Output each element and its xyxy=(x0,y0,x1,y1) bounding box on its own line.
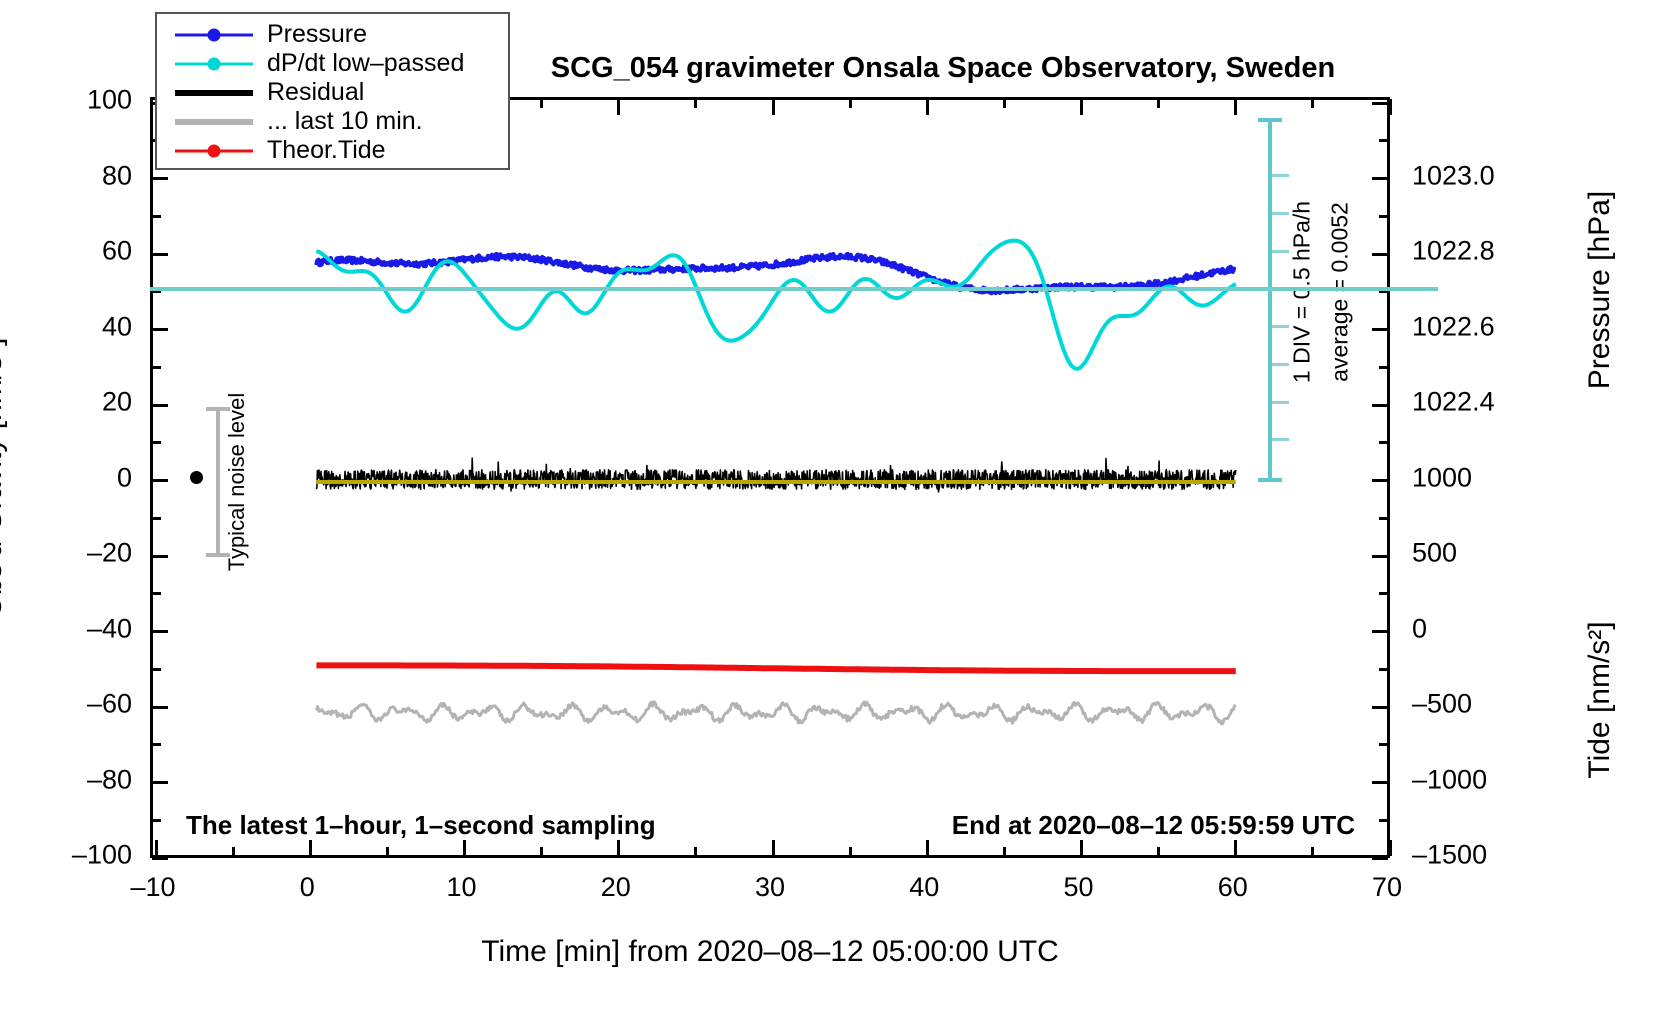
y-tick-right-minor xyxy=(1379,139,1388,142)
x-tick-minor xyxy=(1157,847,1160,856)
y-tick xyxy=(152,857,168,860)
y-tick-right xyxy=(1372,555,1388,558)
legend-label: Theor.Tide xyxy=(267,136,386,165)
y-ticklabel: –100 xyxy=(0,840,132,871)
y-ticklabel: –60 xyxy=(0,689,132,720)
x-ticklabel: 10 xyxy=(446,872,476,903)
legend: PressuredP/dt low–passedResidual... last… xyxy=(155,12,510,170)
x-tick-top-minor xyxy=(1003,99,1006,108)
legend-swatch-icon xyxy=(175,24,253,46)
y-tick-right xyxy=(1372,328,1388,331)
pressure-ticklabel: 1022.8 xyxy=(1412,236,1495,267)
plot-root: SCG_054 gravimeter Onsala Space Observat… xyxy=(0,0,1660,1020)
plot-area xyxy=(150,97,1390,858)
x-tick-minor xyxy=(694,847,697,856)
x-tick-top-minor xyxy=(1311,99,1314,108)
x-ticklabel: 30 xyxy=(755,872,785,903)
legend-label: ... last 10 min. xyxy=(267,107,423,136)
x-tick-minor xyxy=(1003,847,1006,856)
x-tick-minor xyxy=(540,847,543,856)
y-tick xyxy=(152,328,168,331)
x-ticklabel: 20 xyxy=(601,872,631,903)
y-tick-minor xyxy=(152,215,161,218)
tide-ticklabel: –1000 xyxy=(1412,764,1487,795)
legend-item-2[interactable]: Residual xyxy=(157,78,508,107)
y-tick-minor xyxy=(152,668,161,671)
x-tick xyxy=(772,840,775,856)
x-ticklabel: 50 xyxy=(1063,872,1093,903)
series-path xyxy=(316,702,1235,724)
scale-average-label: average = 0.0052 xyxy=(1327,202,1354,382)
y-tick-right-minor xyxy=(1379,819,1388,822)
legend-swatch-icon xyxy=(175,111,253,133)
tide-ticklabel: –1500 xyxy=(1412,840,1487,871)
legend-label: dP/dt low–passed xyxy=(267,49,464,78)
y-tick-right xyxy=(1372,630,1388,633)
y-tick-right xyxy=(1372,102,1388,105)
y-ticklabel: 80 xyxy=(0,160,132,191)
x-tick xyxy=(309,840,312,856)
legend-marker-dot xyxy=(208,28,221,41)
y-ticklabel: 60 xyxy=(0,236,132,267)
x-tick-top xyxy=(1234,99,1237,115)
tide-ticklabel: 0 xyxy=(1412,613,1427,644)
y-tick-minor xyxy=(152,517,161,520)
y-tick-right xyxy=(1372,177,1388,180)
y-ticklabel: –20 xyxy=(0,538,132,569)
x-tick-top xyxy=(926,99,929,115)
y-axis-label-right-tide: Tide [nm/s²] xyxy=(1583,621,1617,778)
y-tick-minor xyxy=(152,441,161,444)
scale-bar-tick xyxy=(1272,174,1289,177)
series-path xyxy=(316,665,1235,671)
legend-item-1[interactable]: dP/dt low–passed xyxy=(157,49,508,78)
y-tick xyxy=(152,404,168,407)
y-tick xyxy=(152,630,168,633)
y-tick-right xyxy=(1372,781,1388,784)
x-tick-top-minor xyxy=(694,99,697,108)
dpdt-baseline xyxy=(150,287,1438,291)
y-ticklabel: –80 xyxy=(0,764,132,795)
x-ticklabel: 0 xyxy=(300,872,315,903)
y-tick-right xyxy=(1372,253,1388,256)
legend-swatch-icon xyxy=(175,53,253,75)
x-tick-minor xyxy=(1311,847,1314,856)
legend-label: Residual xyxy=(267,78,364,107)
noise-level-label: Typical noise level xyxy=(224,393,250,572)
x-tick-top xyxy=(1389,99,1392,115)
scale-division-label: 1 DIV = 0.5 hPa/h xyxy=(1289,201,1316,383)
scale-bar-tick xyxy=(1272,325,1289,328)
legend-item-3[interactable]: ... last 10 min. xyxy=(157,107,508,136)
noise-center-dot xyxy=(190,471,203,484)
x-tick xyxy=(1234,840,1237,856)
y-tick-right-minor xyxy=(1379,517,1388,520)
y-tick-minor xyxy=(152,819,161,822)
x-ticklabel: 60 xyxy=(1218,872,1248,903)
y-tick-right-minor xyxy=(1379,366,1388,369)
y-tick-right-minor xyxy=(1379,743,1388,746)
scale-bar-tick xyxy=(1272,250,1289,253)
y-tick-right xyxy=(1372,479,1388,482)
y-tick xyxy=(152,479,168,482)
pressure-ticklabel: 1022.4 xyxy=(1412,387,1495,418)
y-tick-right-minor xyxy=(1379,441,1388,444)
end-time-note: End at 2020–08–12 05:59:59 UTC xyxy=(952,810,1355,841)
tide-ticklabel: 500 xyxy=(1412,538,1457,569)
scale-bar-tick xyxy=(1272,363,1289,366)
x-tick xyxy=(1389,840,1392,856)
legend-marker-dot xyxy=(208,57,221,70)
scale-bar-tick xyxy=(1272,438,1289,441)
y-tick-right xyxy=(1372,857,1388,860)
tide-ticklabel: 1000 xyxy=(1412,462,1472,493)
y-tick-right-minor xyxy=(1379,592,1388,595)
tide-ticklabel: –500 xyxy=(1412,689,1472,720)
scale-bar xyxy=(1268,118,1272,480)
scale-bar-tick xyxy=(1272,212,1289,215)
y-tick-minor xyxy=(152,743,161,746)
y-tick-minor xyxy=(152,592,161,595)
x-ticklabel: 70 xyxy=(1372,872,1402,903)
y-ticklabel: –40 xyxy=(0,613,132,644)
x-axis-label: Time [min] from 2020–08–12 05:00:00 UTC xyxy=(481,935,1059,969)
y-axis-label-right-pressure: Pressure [hPa] xyxy=(1583,191,1617,389)
y-ticklabel: 40 xyxy=(0,311,132,342)
series-path xyxy=(316,458,1235,492)
legend-line xyxy=(175,119,253,125)
x-tick-top xyxy=(1080,99,1083,115)
x-tick xyxy=(463,840,466,856)
y-ticklabel: 20 xyxy=(0,387,132,418)
legend-label: Pressure xyxy=(267,20,367,49)
legend-swatch-icon xyxy=(175,82,253,104)
x-tick-minor xyxy=(386,847,389,856)
legend-line xyxy=(175,90,253,96)
x-tick-minor xyxy=(849,847,852,856)
x-tick xyxy=(1080,840,1083,856)
pressure-ticklabel: 1023.0 xyxy=(1412,160,1495,191)
scale-bar-tick xyxy=(1272,401,1289,404)
y-tick xyxy=(152,253,168,256)
y-tick xyxy=(152,555,168,558)
x-tick-top xyxy=(772,99,775,115)
scale-bar-cap-bottom xyxy=(1258,478,1282,482)
x-tick xyxy=(155,840,158,856)
data-series-layer xyxy=(153,100,1387,855)
legend-marker-dot xyxy=(208,144,221,157)
legend-swatch-icon xyxy=(175,140,253,162)
x-tick-top-minor xyxy=(1157,99,1160,108)
x-tick-top-minor xyxy=(849,99,852,108)
x-ticklabel: –10 xyxy=(130,872,175,903)
y-tick-right-minor xyxy=(1379,215,1388,218)
y-tick xyxy=(152,177,168,180)
x-tick-minor xyxy=(232,847,235,856)
y-tick-right-minor xyxy=(1379,668,1388,671)
y-tick-minor xyxy=(152,366,161,369)
y-tick xyxy=(152,706,168,709)
pressure-ticklabel: 1022.6 xyxy=(1412,311,1495,342)
y-tick xyxy=(152,781,168,784)
y-tick-right xyxy=(1372,404,1388,407)
y-ticklabel: 0 xyxy=(0,462,132,493)
y-ticklabel: 100 xyxy=(0,85,132,116)
x-tick-top-minor xyxy=(540,99,543,108)
x-ticklabel: 40 xyxy=(909,872,939,903)
y-tick-right xyxy=(1372,706,1388,709)
noise-bar xyxy=(216,407,220,557)
x-tick xyxy=(926,840,929,856)
legend-item-4[interactable]: Theor.Tide xyxy=(157,136,508,165)
chart-title: SCG_054 gravimeter Onsala Space Observat… xyxy=(551,52,1335,85)
x-tick xyxy=(617,840,620,856)
legend-item-0[interactable]: Pressure xyxy=(157,20,508,49)
sampling-note: The latest 1–hour, 1–second sampling xyxy=(186,810,656,841)
x-tick-top xyxy=(617,99,620,115)
